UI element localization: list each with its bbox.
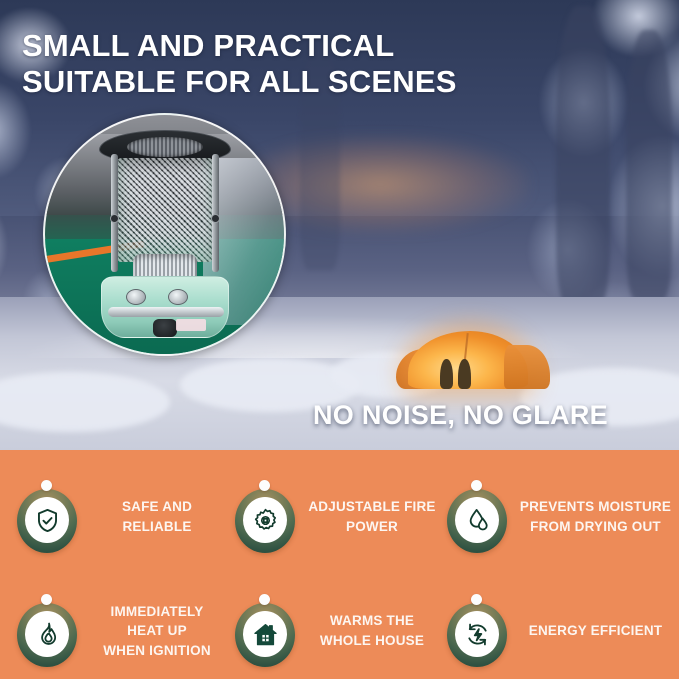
- badge-dot: [41, 594, 52, 605]
- badge-dot: [41, 480, 52, 491]
- tree-silhouette: [556, 6, 610, 306]
- feature-badge: [232, 480, 298, 554]
- feature-label-line: POWER: [304, 517, 440, 537]
- badge-dot: [471, 594, 482, 605]
- product-infographic: SMALL AND PRACTICAL SUITABLE FOR ALL SCE…: [0, 0, 679, 679]
- feature-label-line: HEAT UP: [86, 621, 228, 641]
- feature-adjustable-fire-power[interactable]: ADJUSTABLE FIRE POWER: [232, 460, 444, 574]
- feature-label: PREVENTS MOISTURE FROM DRYING OUT: [512, 497, 679, 536]
- feature-label: IMMEDIATELY HEAT UP WHEN IGNITION: [82, 602, 232, 661]
- heater-bolt-left: [110, 214, 119, 223]
- features-row-2: IMMEDIATELY HEAT UP WHEN IGNITION: [0, 574, 679, 679]
- feature-label-line: WHEN IGNITION: [86, 641, 228, 661]
- features-panel: SAFE AND RELIABLE: [0, 450, 679, 679]
- camping-tent: [396, 331, 556, 393]
- headline-line-2: SUITABLE FOR ALL SCENES: [22, 64, 457, 100]
- feature-badge: [14, 594, 80, 668]
- gear-icon: [243, 497, 287, 543]
- water-drops-icon: [455, 497, 499, 543]
- kerosene-heater: [97, 130, 233, 344]
- headline-line-1: SMALL AND PRACTICAL: [22, 28, 457, 64]
- feature-label-line: ENERGY EFFICIENT: [516, 621, 675, 641]
- tree-silhouette: [626, 30, 672, 300]
- feature-label-line: SAFE AND: [86, 497, 228, 517]
- house-icon: [243, 611, 287, 657]
- feature-badge: [14, 480, 80, 554]
- feature-safe-and-reliable[interactable]: SAFE AND RELIABLE: [14, 460, 232, 574]
- heater-post-right: [212, 154, 219, 272]
- feature-immediate-heat[interactable]: IMMEDIATELY HEAT UP WHEN IGNITION: [14, 574, 232, 679]
- feature-label-line: RELIABLE: [86, 517, 228, 537]
- badge-dot: [471, 480, 482, 491]
- feature-label: WARMS THE WHOLE HOUSE: [300, 611, 444, 650]
- page-title: SMALL AND PRACTICAL SUITABLE FOR ALL SCE…: [22, 28, 457, 100]
- feature-label-line: ADJUSTABLE FIRE: [304, 497, 440, 517]
- badge-dot: [259, 594, 270, 605]
- feature-label-line: PREVENTS MOISTURE: [516, 497, 675, 517]
- heater-base: [101, 276, 229, 338]
- recycle-bolt-icon: [455, 611, 499, 657]
- feature-label-line: WHOLE HOUSE: [304, 631, 440, 651]
- feature-label-line: WARMS THE: [304, 611, 440, 631]
- feature-prevents-moisture[interactable]: PREVENTS MOISTURE FROM DRYING OUT: [444, 460, 679, 574]
- feature-label: ADJUSTABLE FIRE POWER: [300, 497, 444, 536]
- heater-chrome-ring: [108, 307, 224, 317]
- flame-icon: [25, 611, 69, 657]
- tent-rear: [504, 345, 550, 389]
- heater-post-left: [111, 154, 118, 272]
- feature-label: ENERGY EFFICIENT: [512, 621, 679, 641]
- heater-dial-right: [168, 289, 188, 305]
- feature-label-line: IMMEDIATELY: [86, 602, 228, 622]
- hero-tagline: NO NOISE, NO GLARE: [313, 400, 608, 431]
- shield-check-icon: [25, 497, 69, 543]
- feature-label-line: FROM DRYING OUT: [516, 517, 675, 537]
- heater-dial-left: [126, 289, 146, 305]
- heater-fuel-valve: [153, 319, 177, 337]
- badge-dot: [259, 480, 270, 491]
- product-photo-circle: [43, 113, 286, 356]
- snowshoe-left: [440, 359, 453, 389]
- feature-badge: [444, 480, 510, 554]
- heater-label-sticker: [176, 319, 206, 331]
- heater-top-grill: [127, 137, 203, 157]
- hero-winter-scene: SMALL AND PRACTICAL SUITABLE FOR ALL SCE…: [0, 0, 679, 450]
- feature-warms-whole-house[interactable]: WARMS THE WHOLE HOUSE: [232, 574, 444, 679]
- heater-bolt-right: [211, 214, 220, 223]
- feature-energy-efficient[interactable]: ENERGY EFFICIENT: [444, 574, 679, 679]
- feature-badge: [444, 594, 510, 668]
- feature-label: SAFE AND RELIABLE: [82, 497, 232, 536]
- snowshoe-right: [458, 359, 471, 389]
- features-row-1: SAFE AND RELIABLE: [0, 460, 679, 574]
- heater-mesh-grill: [117, 158, 213, 262]
- feature-badge: [232, 594, 298, 668]
